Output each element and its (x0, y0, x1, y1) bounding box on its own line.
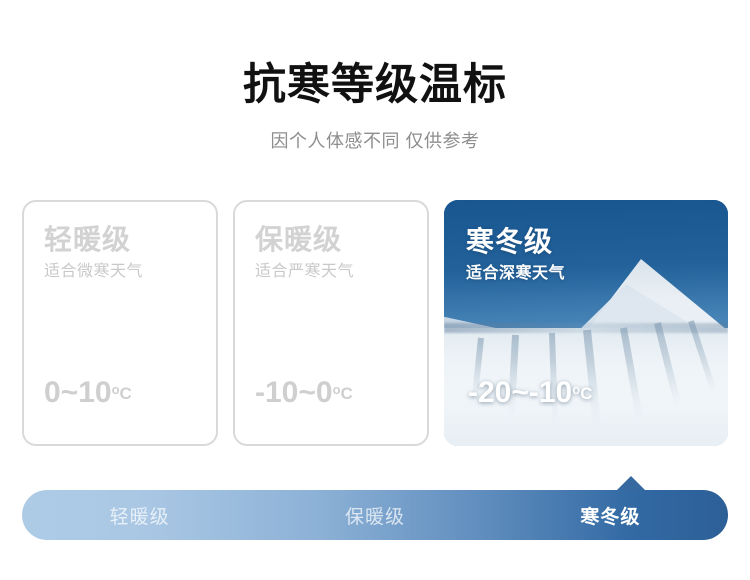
celsius-letter: C (120, 384, 132, 403)
level-card-light-warm[interactable]: 轻暖级 适合微寒天气 0~10oC (22, 200, 218, 446)
card-temperature-range: 0~10oC (44, 376, 132, 410)
degree-ring-glyph: o (572, 382, 580, 397)
card-level-title: 轻暖级 (44, 224, 206, 256)
page-subtitle: 因个人体感不同 仅供参考 (0, 109, 750, 153)
card-level-description: 适合严寒天气 (255, 256, 417, 281)
card-text-block: 轻暖级 适合微寒天气 (44, 224, 206, 281)
scale-active-pointer-icon (616, 476, 646, 491)
card-level-description: 适合微寒天气 (44, 256, 206, 281)
card-temperature-range: -10~0oC (255, 376, 353, 410)
scale-gradient-bar[interactable]: 轻暖级 保暖级 寒冬级 (22, 490, 728, 540)
temperature-value: 0~10 (44, 376, 112, 409)
card-temperature-range: -20~-10oC (468, 376, 592, 410)
celsius-letter: C (580, 384, 592, 403)
card-text-block: 寒冬级 适合深寒天气 (466, 226, 718, 283)
degree-ring-glyph: o (333, 382, 341, 397)
level-card-warm-keeping[interactable]: 保暖级 适合严寒天气 -10~0oC (233, 200, 429, 446)
card-level-description: 适合深寒天气 (466, 258, 718, 283)
scale-segment-deep-winter[interactable]: 寒冬级 (493, 502, 728, 529)
degree-celsius-unit: oC (333, 384, 353, 403)
degree-celsius-unit: oC (572, 384, 592, 403)
warmth-scale: 轻暖级 保暖级 寒冬级 (22, 490, 728, 540)
scale-segment-light-warm[interactable]: 轻暖级 (22, 502, 257, 529)
temperature-value: -20~-10 (468, 376, 572, 409)
card-text-block: 保暖级 适合严寒天气 (255, 224, 417, 281)
scale-segment-warm-keeping[interactable]: 保暖级 (257, 502, 492, 529)
celsius-letter: C (341, 384, 353, 403)
temperature-value: -10~0 (255, 376, 333, 409)
level-card-deep-winter[interactable]: 寒冬级 适合深寒天气 -20~-10oC (444, 200, 728, 446)
header: 抗寒等级温标 因个人体感不同 仅供参考 (0, 0, 750, 153)
degree-ring-glyph: o (112, 382, 120, 397)
card-level-title: 寒冬级 (466, 226, 718, 258)
card-level-title: 保暖级 (255, 224, 417, 256)
degree-celsius-unit: oC (112, 384, 132, 403)
warmth-level-cards: 轻暖级 适合微寒天气 0~10oC 保暖级 适合严寒天气 -10~0oC (22, 200, 728, 446)
page-title: 抗寒等级温标 (0, 0, 750, 109)
